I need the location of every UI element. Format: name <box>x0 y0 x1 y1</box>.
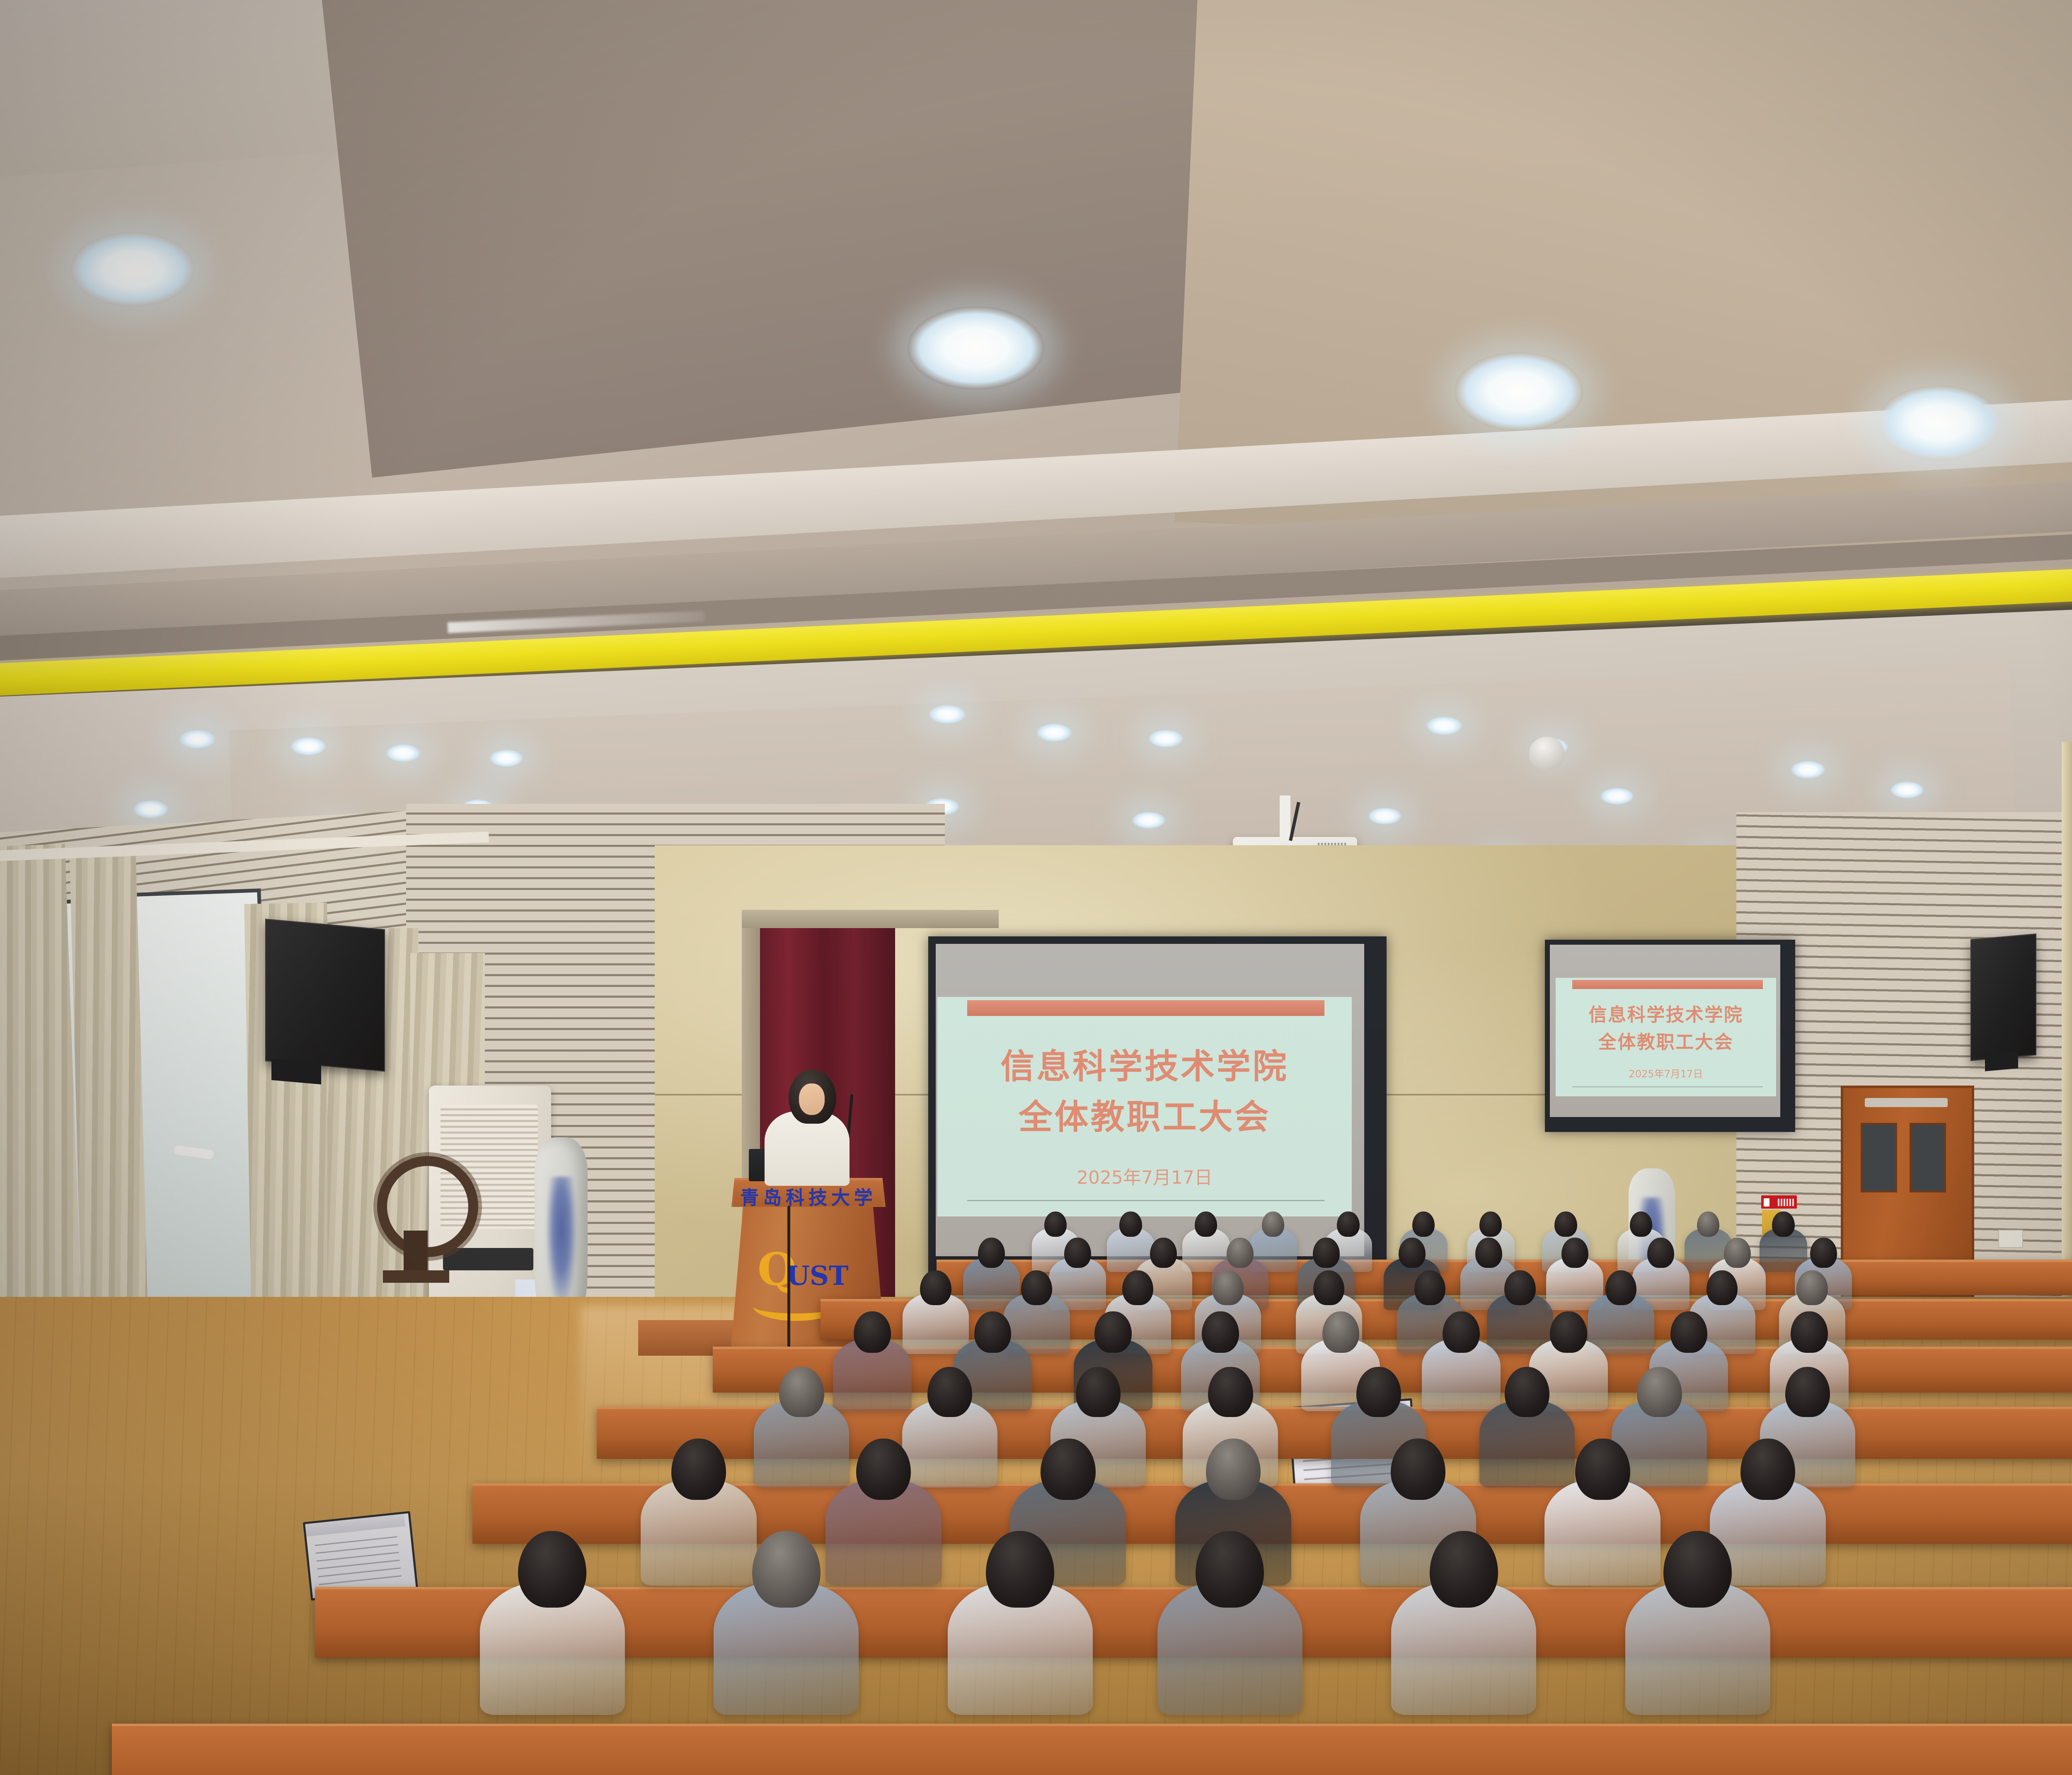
recessed-downlight <box>1368 807 1402 825</box>
audience-member-head <box>1697 1212 1719 1237</box>
audience-member-head <box>1670 1311 1708 1353</box>
wall-outlet[interactable] <box>1998 1230 2023 1248</box>
slide-title-line2: 全体教职工大会 <box>1556 1033 1776 1052</box>
fire-sign-label <box>1778 1199 1794 1206</box>
audience-member-head <box>1412 1212 1435 1237</box>
recessed-downlight <box>1036 723 1072 742</box>
qust-logo-ust: UST <box>787 1263 853 1289</box>
recessed-downlight <box>290 737 327 756</box>
audience-member-head <box>1630 1212 1652 1237</box>
audience-member-head <box>854 1311 891 1353</box>
speaker-bracket <box>1985 1051 2018 1071</box>
recessed-downlight <box>133 800 169 819</box>
audience-member-head <box>1195 1212 1217 1237</box>
screen-surface: 信息科学技术学院 全体教职工大会 2025年7月17日 <box>1550 945 1780 1117</box>
slide-date: 2025年7月17日 <box>937 1163 1352 1189</box>
vase-pattern <box>546 1177 577 1309</box>
speaker-bracket <box>271 1059 321 1084</box>
audience-member-head <box>779 1367 824 1417</box>
audience-member-head <box>1785 1367 1830 1417</box>
recessed-downlight <box>489 749 524 767</box>
ship-wheel-ornament <box>369 1156 464 1280</box>
recessed-downlight <box>385 744 421 762</box>
audience-member-head <box>1414 1270 1446 1305</box>
slide-title-line1: 信息科学技术学院 <box>937 1050 1352 1084</box>
audience-member-head <box>974 1311 1012 1353</box>
audience-member-head <box>1663 1531 1732 1608</box>
audience-member-head <box>1119 1212 1142 1237</box>
audience-member-head <box>920 1270 951 1305</box>
audience-member-head <box>1208 1367 1253 1417</box>
recessed-downlight <box>1890 781 1924 799</box>
audience-member-head <box>752 1531 821 1608</box>
projection-screen-side: 信息科学技术学院 全体教职工大会 2025年7月17日 <box>1545 940 1795 1132</box>
audience-member-head <box>518 1531 586 1608</box>
audience-member-head <box>1399 1238 1426 1268</box>
slide-divider <box>1572 1086 1763 1087</box>
dome-camera <box>1529 737 1565 770</box>
audience-member-head <box>1206 1439 1261 1500</box>
podium-cable <box>787 1206 790 1367</box>
door-window <box>1861 1123 1897 1192</box>
door-closer <box>1865 1098 1948 1107</box>
audience-member-head <box>1212 1270 1244 1305</box>
audience-member-head <box>1706 1270 1738 1305</box>
projector-mount-pole <box>1280 796 1290 841</box>
audience-member-head <box>856 1439 911 1500</box>
audience-member-head <box>1041 1439 1095 1500</box>
audience-member-head <box>1740 1439 1795 1500</box>
audience-member-head <box>1791 1311 1828 1353</box>
conference-hall-photo: 信息科学技术学院 全体教职工大会 2025年7月17日 信息科学技术学院 全体教… <box>0 0 2072 1775</box>
audience-member-head <box>1772 1212 1794 1237</box>
audience-member-head <box>1550 1311 1587 1353</box>
wall-speaker-left <box>265 919 385 1071</box>
recessed-downlight <box>908 307 1044 389</box>
laptop-document-lines <box>315 1536 402 1588</box>
audience-member-head <box>1561 1238 1588 1268</box>
audience-member-head <box>1076 1367 1121 1417</box>
slide-title-line1: 信息科学技术学院 <box>1556 1006 1776 1024</box>
audience-member-head <box>1575 1439 1630 1500</box>
audience-member-head <box>1605 1270 1637 1305</box>
recessed-downlight <box>1455 352 1583 431</box>
audience-desk-row <box>112 1724 2072 1775</box>
audience-member-head <box>1202 1311 1239 1353</box>
podium-university-name: 青岛科技大学 <box>731 1183 886 1209</box>
presenter-face <box>799 1083 825 1115</box>
audience-member-head <box>1262 1212 1284 1237</box>
audience-member-head <box>1356 1367 1402 1417</box>
slide-title-line2: 全体教职工大会 <box>937 1100 1352 1134</box>
recessed-downlight <box>928 704 966 724</box>
audience-member-head <box>1475 1238 1502 1268</box>
audience-member-head <box>671 1439 726 1500</box>
recessed-downlight <box>178 729 216 749</box>
audience-member-head <box>1430 1531 1498 1608</box>
slide-divider <box>967 1200 1324 1201</box>
recessed-downlight <box>1790 760 1826 779</box>
audience-member-head <box>927 1367 973 1417</box>
audience-member-head <box>1724 1238 1751 1268</box>
audience-member-head <box>1796 1270 1828 1305</box>
audience-member-head <box>1810 1238 1837 1268</box>
audience-member-head <box>1479 1212 1502 1237</box>
audience-member-head <box>1064 1238 1091 1268</box>
audience-member-head <box>1504 1270 1536 1305</box>
audience-member-head <box>1443 1311 1480 1353</box>
audience-member-head <box>1150 1238 1177 1268</box>
recessed-downlight <box>70 232 195 307</box>
door-window <box>1910 1123 1946 1192</box>
screen-surface: 信息科学技术学院 全体教职工大会 2025年7月17日 <box>936 944 1364 1256</box>
recessed-downlight <box>1877 385 2002 460</box>
audience-member-head <box>1227 1238 1254 1268</box>
audience-member-head <box>1637 1367 1682 1417</box>
audience-member-head <box>1021 1270 1053 1305</box>
slide-date: 2025年7月17日 <box>1556 1066 1776 1080</box>
audience-member-head <box>1337 1212 1359 1237</box>
recessed-downlight <box>1148 729 1184 748</box>
fire-sign-icon <box>1764 1198 1769 1207</box>
audience-member-head <box>978 1238 1005 1268</box>
recessed-downlight <box>1600 787 1634 805</box>
audience-member-head <box>1313 1238 1340 1268</box>
ornament-wheel <box>377 1156 478 1257</box>
recessed-downlight <box>1131 811 1166 829</box>
ornament-base <box>383 1270 449 1283</box>
audience-member-head <box>1313 1270 1345 1305</box>
wall-speaker-right <box>1970 933 2036 1061</box>
slide-main: 信息科学技术学院 全体教职工大会 2025年7月17日 <box>937 997 1352 1216</box>
audience-member-head <box>1122 1270 1154 1305</box>
audience-member-head <box>1391 1439 1445 1500</box>
audience-member-head <box>1094 1311 1132 1353</box>
stage-curtain-header <box>742 910 999 928</box>
audience-member-head <box>1505 1367 1550 1417</box>
audience-member-head <box>1322 1311 1360 1353</box>
slide-accent-bar <box>967 1000 1324 1016</box>
recessed-downlight <box>1426 716 1463 735</box>
audience-member-head <box>1554 1212 1577 1237</box>
audience-member-head <box>1647 1238 1674 1268</box>
audience-member-head <box>1044 1212 1067 1237</box>
audience-member-head <box>986 1531 1054 1608</box>
projection-screen-main: 信息科学技术学院 全体教职工大会 2025年7月17日 <box>928 936 1387 1279</box>
slide-accent-bar <box>1572 980 1763 989</box>
audience-member-head <box>1196 1531 1264 1608</box>
slide-side: 信息科学技术学院 全体教职工大会 2025年7月17日 <box>1556 978 1776 1096</box>
